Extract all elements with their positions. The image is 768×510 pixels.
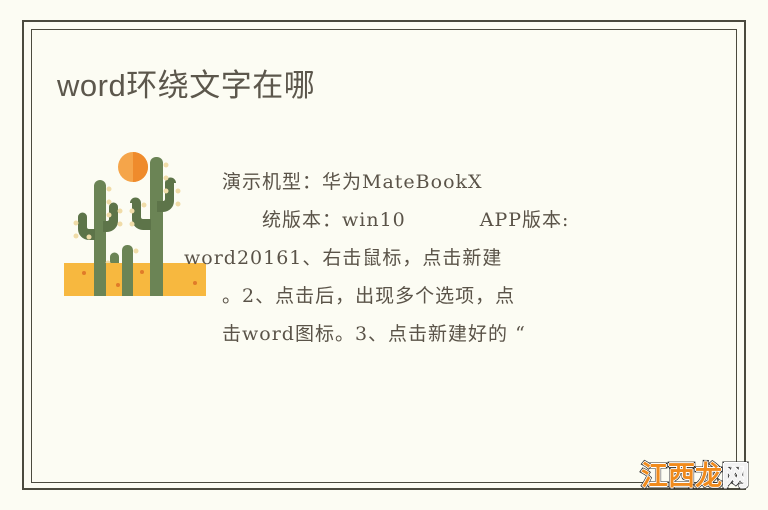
body-line-3: word20161、右击鼠标，点击新建 — [184, 239, 714, 277]
site-watermark: 江西龙网 — [641, 460, 749, 494]
article-body: 演示机型：华为MateBookX 统版本：win10APP版本: word201… — [222, 163, 714, 353]
watermark-char-4: 网 — [722, 460, 749, 494]
watermark-char-2: 西 — [668, 460, 695, 494]
body-line-1: 演示机型：华为MateBookX — [222, 163, 714, 201]
body-line-4: 。2、点击后，出现多个选项，点 — [222, 277, 714, 315]
watermark-char-3: 龙 — [695, 460, 722, 494]
page-title: word环绕文字在哪 — [57, 66, 315, 106]
body-line-2-os: 统版本：win10 — [262, 209, 406, 231]
article-page: word环绕文字在哪 — [0, 0, 768, 510]
body-line-2-app: APP版本: — [480, 209, 570, 231]
body-line-2: 统版本：win10APP版本: — [222, 201, 714, 239]
body-line-5: 击word图标。3、点击新建好的 “ — [222, 315, 714, 353]
watermark-char-1: 江 — [641, 460, 668, 494]
